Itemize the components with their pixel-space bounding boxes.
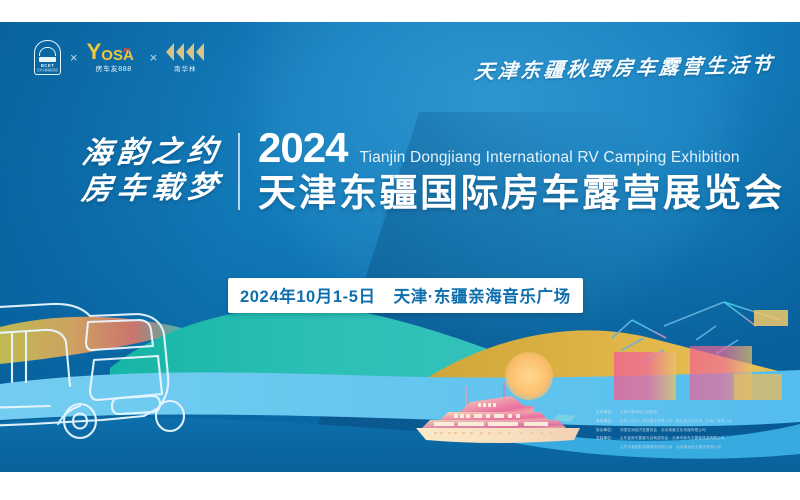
logo-separator-1-icon: × (70, 50, 78, 65)
fineprint-label: 支持单位： (596, 434, 615, 443)
fineprint-value: 中国亚洲经济发展协会 北京维景文化传媒有限公司 (620, 426, 706, 435)
fineprint-row: 承办单位： 友海（北京）国际展览有限公司 荣艺城文化传媒（天津）有限公司 (596, 417, 796, 426)
title-chinese: 天津东疆国际房车露营展览会 (258, 173, 785, 216)
chevron-icon (166, 43, 204, 61)
bcet-subtext: 天津东疆保税港区 (37, 68, 59, 72)
title-english: Tianjin Dongjiang International RV Campi… (359, 149, 739, 167)
fineprint-value: 天津东疆湾城文旅集团 (620, 408, 657, 417)
bcet-bar-shape (39, 57, 56, 62)
logo-separator-2-icon: × (150, 50, 158, 65)
event-venue: 天津·东疆亲海音乐广场 (394, 283, 571, 307)
event-date: 2024年10月1-5日 (240, 283, 376, 307)
yosa-wordmark: Y OSA RV (87, 41, 141, 63)
chevron-logo[interactable]: 南华林 (166, 43, 204, 73)
fineprint-row: 支持单位： 山东省房车露营与自驾游协会 天津市新东方露营旅游有限公司 (596, 434, 796, 443)
rv-line-illustration (0, 290, 232, 450)
title-year: 2024 (258, 127, 347, 169)
title-text-group: 2024 Tianjin Dongjiang International RV … (240, 127, 785, 216)
fineprint-label: 协办单位： (596, 426, 615, 435)
poster-canvas: BCET 天津东疆保税港区 × Y OSA RV 房车友888 × 南华林 天津… (0, 22, 800, 472)
fineprint-row: 山东中鑫国际会展服务有限公司 北京轴运信业展览有限公司 (596, 443, 796, 452)
fineprint-label: 承办单位： (596, 417, 615, 426)
title-block: 海韵之约 房车载梦 2024 Tianjin Dongjiang Interna… (82, 127, 785, 216)
brush-line-2: 房车载梦 (80, 172, 224, 207)
organizer-fineprint: 主办单位： 天津东疆湾城文旅集团 承办单位： 友海（北京）国际展览有限公司 荣艺… (596, 408, 796, 452)
fineprint-row: 协办单位： 中国亚洲经济发展协会 北京维景文化传媒有限公司 (596, 426, 796, 435)
bcet-arch-shape (39, 47, 56, 56)
fineprint-row: 主办单位： 天津东疆湾城文旅集团 (596, 408, 796, 417)
fineprint-value: 友海（北京）国际展览有限公司 荣艺城文化传媒（天津）有限公司 (620, 417, 732, 426)
yosa-subtext: 房车友888 (95, 64, 131, 74)
bcet-logo[interactable]: BCET 天津东疆保税港区 (34, 40, 61, 75)
title-year-row: 2024 Tianjin Dongjiang International RV … (258, 127, 785, 169)
fineprint-label: 主办单位： (596, 408, 615, 417)
fineprint-value: 山东省房车露营与自驾游协会 天津市新东方露营旅游有限公司 (620, 434, 725, 443)
title-divider (238, 133, 240, 210)
partner-logo-row: BCET 天津东疆保税港区 × Y OSA RV 房车友888 × 南华林 (34, 40, 204, 75)
brush-line-1: 海韵之约 (80, 136, 224, 171)
yosa-letter-y: Y (87, 41, 102, 63)
bcet-mark: BCET 天津东疆保税港区 (34, 40, 61, 75)
fineprint-value: 山东中鑫国际会展服务有限公司 北京轴运信业展览有限公司 (620, 443, 721, 452)
date-venue-bar: 2024年10月1-5日 天津·东疆亲海音乐广场 (228, 278, 583, 313)
yosa-logo[interactable]: Y OSA RV 房车友888 (87, 41, 141, 74)
chevron-subtext: 南华林 (174, 63, 197, 73)
cruise-ship-illustration (408, 380, 598, 450)
yosa-rv-badge: RV (124, 49, 131, 54)
brush-calligraphy: 海韵之约 房车载梦 (82, 127, 238, 216)
port-crane-illustration (604, 290, 794, 415)
